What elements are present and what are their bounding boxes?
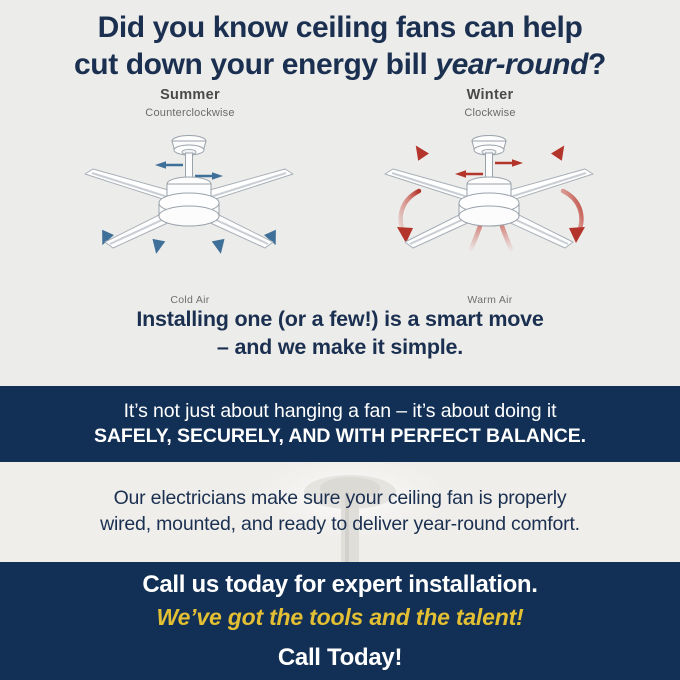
electricians-message-line-2: wired, mounted, and ready to deliver yea…: [100, 512, 580, 538]
call-today-button[interactable]: Call Today!: [278, 644, 402, 672]
winter-title: Winter: [340, 87, 640, 103]
summer-footer-label: Cold Air: [40, 294, 340, 306]
call-to-action-section: Call us today for expert installation. W…: [0, 562, 680, 680]
headline-line-2-suffix: ?: [588, 48, 606, 81]
subheadline-line-1: Installing one (or a few!) is a smart mo…: [0, 306, 680, 334]
cta-tagline: We’ve got the tools and the talent!: [157, 603, 524, 633]
summer-subtitle: Counterclockwise: [40, 107, 340, 119]
fan-motor-housing: [459, 177, 519, 226]
headline-emphasis: year-round: [435, 48, 588, 81]
ceiling-canopy: [472, 136, 506, 156]
infographic-page: Did you know ceiling fans can help cut d…: [0, 0, 680, 680]
electricians-message-band: Our electricians make sure your ceiling …: [0, 462, 680, 562]
subheadline: Installing one (or a few!) is a smart mo…: [0, 306, 680, 389]
winter-fan-illustration: [375, 121, 605, 296]
headline-line-2-text: cut down your energy bill: [74, 48, 435, 81]
winter-subtitle: Clockwise: [340, 107, 640, 119]
summer-diagram: Summer Counterclockwise: [40, 87, 340, 306]
headline-line-2: cut down your energy bill year-round?: [24, 47, 656, 84]
safety-message-line-1: It’s not just about hanging a fan – it’s…: [124, 399, 557, 424]
headline-and-diagrams-section: Did you know ceiling fans can help cut d…: [0, 0, 680, 386]
fan-motor-housing: [159, 177, 219, 226]
summer-fan-illustration: [75, 121, 305, 296]
page-title: Did you know ceiling fans can help cut d…: [0, 0, 680, 83]
safety-message-line-2: SAFELY, SECURELY, AND WITH PERFECT BALAN…: [94, 424, 586, 449]
electricians-message-line-1: Our electricians make sure your ceiling …: [100, 486, 580, 512]
cta-headline: Call us today for expert installation.: [142, 570, 537, 600]
summer-title: Summer: [40, 87, 340, 103]
subheadline-line-2: – and we make it simple.: [0, 334, 680, 362]
winter-diagram: Winter Clockwise: [340, 87, 640, 306]
headline-line-1: Did you know ceiling fans can help: [24, 10, 656, 47]
electricians-message: Our electricians make sure your ceiling …: [78, 486, 602, 538]
warm-air-circulation-right: [563, 191, 585, 243]
fan-direction-diagrams: Summer Counterclockwise: [0, 87, 680, 306]
warm-air-circulation-left: [397, 191, 419, 243]
safety-message-band: It’s not just about hanging a fan – it’s…: [0, 386, 680, 462]
winter-footer-label: Warm Air: [340, 294, 640, 306]
ceiling-canopy: [172, 136, 206, 156]
